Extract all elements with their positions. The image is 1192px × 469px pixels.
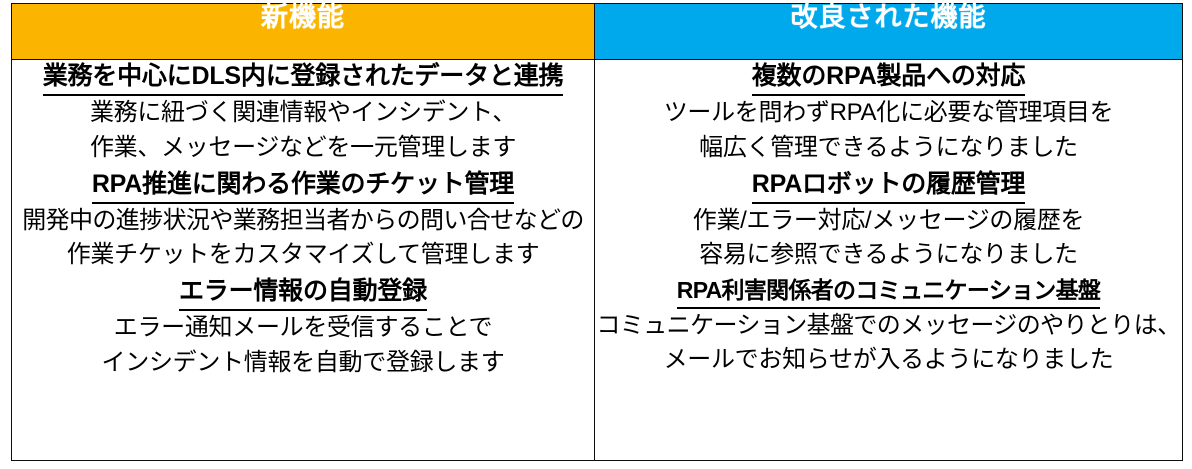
feature-block: 複数のRPA製品への対応 ツールを問わずRPA化に必要な管理項目を 幅広く管理で… [595, 60, 1182, 166]
column-body-new-features: 業務を中心にDLS内に登録されたデータと連携 業務に紐づく関連情報やインシデント… [12, 60, 595, 461]
feature-line: 容易に参照できるようになりました [595, 238, 1182, 273]
feature-block: RPAロボットの履歴管理 作業/エラー対応/メッセージの履歴を 容易に参照できる… [595, 168, 1182, 274]
comparison-table-page: 新機能 改良された機能 業務を中心にDLS内に登録されたデータと連携 業務に紐づ… [0, 0, 1192, 469]
feature-heading-text: RPA推進に関わる作業のチケット管理 [92, 168, 514, 204]
feature-line: エラー通知メールを受信することで [12, 311, 594, 346]
feature-block: RPA推進に関わる作業のチケット管理 開発中の進捗状況や業務担当者からの問い合せ… [12, 168, 594, 274]
feature-heading-text: RPA利害関係者のコミュニケーション基盤 [677, 275, 1100, 308]
column-body-improved-features: 複数のRPA製品への対応 ツールを問わずRPA化に必要な管理項目を 幅広く管理で… [595, 60, 1183, 461]
table-body-row: 業務を中心にDLS内に登録されたデータと連携 業務に紐づく関連情報やインシデント… [12, 60, 1183, 461]
feature-block: 業務を中心にDLS内に登録されたデータと連携 業務に紐づく関連情報やインシデント… [12, 60, 594, 166]
feature-block: エラー情報の自動登録 エラー通知メールを受信することで インシデント情報を自動で… [12, 275, 594, 381]
feature-heading: RPA推進に関わる作業のチケット管理 [12, 168, 594, 204]
column-header-new-features: 新機能 [12, 4, 595, 60]
feature-heading-text: 業務を中心にDLS内に登録されたデータと連携 [43, 60, 564, 96]
feature-heading-text: RPAロボットの履歴管理 [752, 168, 1026, 204]
feature-heading-text: 複数のRPA製品への対応 [752, 60, 1026, 96]
feature-line: 業務に紐づく関連情報やインシデント、 [12, 96, 594, 131]
feature-line: コミュニケーション基盤でのメッセージのやりとりは、 [595, 309, 1182, 344]
feature-line: インシデント情報を自動で登録します [12, 346, 594, 381]
feature-heading: 複数のRPA製品への対応 [595, 60, 1182, 96]
feature-line: メールでお知らせが入るようになりました [595, 343, 1182, 378]
feature-line: 開発中の進捗状況や業務担当者からの問い合せなどの [12, 204, 594, 239]
feature-line: 作業/エラー対応/メッセージの履歴を [595, 204, 1182, 239]
feature-heading: エラー情報の自動登録 [12, 275, 594, 311]
feature-heading-text: エラー情報の自動登録 [179, 275, 427, 311]
feature-heading: RPA利害関係者のコミュニケーション基盤 [595, 275, 1182, 308]
column-header-improved-features: 改良された機能 [595, 4, 1183, 60]
feature-heading: RPAロボットの履歴管理 [595, 168, 1182, 204]
feature-line: ツールを問わずRPA化に必要な管理項目を [595, 96, 1182, 131]
feature-block: RPA利害関係者のコミュニケーション基盤 コミュニケーション基盤でのメッセージの… [595, 275, 1182, 378]
feature-comparison-table: 新機能 改良された機能 業務を中心にDLS内に登録されたデータと連携 業務に紐づ… [11, 3, 1183, 461]
table-header-row: 新機能 改良された機能 [12, 4, 1183, 60]
feature-line: 作業、メッセージなどを一元管理します [12, 131, 594, 166]
feature-heading: 業務を中心にDLS内に登録されたデータと連携 [12, 60, 594, 96]
feature-line: 作業チケットをカスタマイズして管理します [12, 238, 594, 273]
feature-line: 幅広く管理できるようになりました [595, 131, 1182, 166]
